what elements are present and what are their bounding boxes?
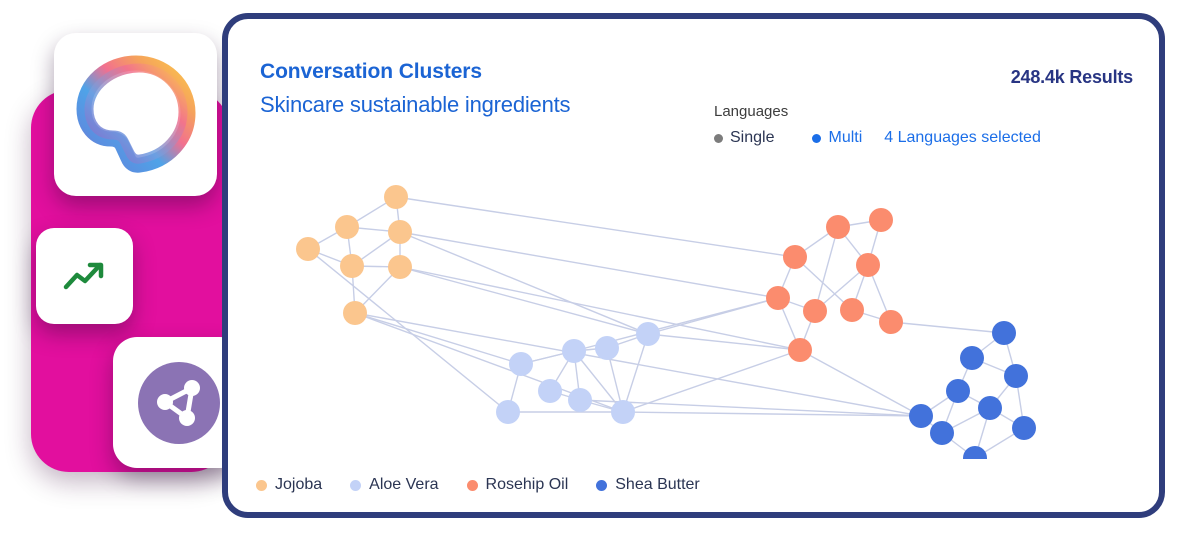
decorative-icon-stack (0, 0, 260, 558)
graph-edge (800, 350, 921, 416)
brandwatch-logo-card[interactable] (54, 33, 217, 196)
legend-dot-rosehip-oil-icon (467, 480, 478, 491)
graph-edge (396, 197, 795, 257)
graph-edge (815, 227, 838, 311)
legend-label-shea-butter: Shea Butter (615, 476, 700, 494)
legend-item-aloe-vera[interactable]: Aloe Vera (350, 476, 438, 494)
graph-node[interactable] (611, 400, 635, 424)
legend-label-aloe-vera: Aloe Vera (369, 476, 438, 494)
graph-node[interactable] (840, 298, 864, 322)
network-graph-icon (138, 362, 220, 444)
cluster-graph-svg[interactable] (228, 139, 1159, 459)
graph-node[interactable] (568, 388, 592, 412)
graph-node[interactable] (388, 255, 412, 279)
graph-node[interactable] (766, 286, 790, 310)
cluster-graph[interactable] (228, 139, 1159, 459)
graph-node[interactable] (296, 237, 320, 261)
graph-node[interactable] (340, 254, 364, 278)
graph-node[interactable] (946, 379, 970, 403)
brandwatch-logo-icon (76, 55, 196, 175)
graph-node[interactable] (992, 321, 1016, 345)
legend-item-jojoba[interactable]: Jojoba (256, 476, 322, 494)
languages-label: Languages (714, 103, 1041, 120)
legend: Jojoba Aloe Vera Rosehip Oil Shea Butter (256, 476, 728, 494)
graph-edge (400, 232, 648, 334)
graph-node[interactable] (335, 215, 359, 239)
graph-node[interactable] (826, 215, 850, 239)
graph-node[interactable] (388, 220, 412, 244)
trend-arrow-icon (62, 259, 108, 293)
graph-node[interactable] (783, 245, 807, 269)
graph-node[interactable] (869, 208, 893, 232)
graph-edge (400, 232, 778, 298)
graph-node[interactable] (960, 346, 984, 370)
graph-node[interactable] (1012, 416, 1036, 440)
graph-node[interactable] (1004, 364, 1028, 388)
graph-node[interactable] (496, 400, 520, 424)
results-count: 248.4k Results (1011, 67, 1133, 88)
graph-node[interactable] (343, 301, 367, 325)
graph-node[interactable] (930, 421, 954, 445)
legend-label-jojoba: Jojoba (275, 476, 322, 494)
graph-edge (623, 334, 648, 412)
graph-edge (648, 334, 800, 350)
legend-item-rosehip-oil[interactable]: Rosehip Oil (467, 476, 569, 494)
legend-label-rosehip-oil: Rosehip Oil (486, 476, 569, 494)
trend-card[interactable] (36, 228, 133, 324)
page-subtitle: Skincare sustainable ingredients (260, 94, 570, 116)
graph-node[interactable] (562, 339, 586, 363)
legend-item-shea-butter[interactable]: Shea Butter (596, 476, 700, 494)
graph-node[interactable] (963, 446, 987, 459)
graph-node[interactable] (538, 379, 562, 403)
conversation-clusters-card: Conversation Clusters Skincare sustainab… (222, 13, 1165, 518)
legend-dot-shea-butter-icon (596, 480, 607, 491)
page-title: Conversation Clusters (260, 61, 570, 82)
graph-node[interactable] (636, 322, 660, 346)
card-header: Conversation Clusters Skincare sustainab… (228, 19, 1159, 139)
graph-edge (400, 267, 648, 334)
title-block: Conversation Clusters Skincare sustainab… (260, 61, 570, 116)
graph-node[interactable] (803, 299, 827, 323)
graph-node[interactable] (595, 336, 619, 360)
graph-node[interactable] (978, 396, 1002, 420)
legend-dot-aloe-vera-icon (350, 480, 361, 491)
graph-node[interactable] (788, 338, 812, 362)
graph-node[interactable] (509, 352, 533, 376)
graph-node[interactable] (879, 310, 903, 334)
graph-node[interactable] (856, 253, 880, 277)
graph-node[interactable] (909, 404, 933, 428)
legend-dot-jojoba-icon (256, 480, 267, 491)
graph-edge (891, 322, 1004, 333)
graph-node[interactable] (384, 185, 408, 209)
